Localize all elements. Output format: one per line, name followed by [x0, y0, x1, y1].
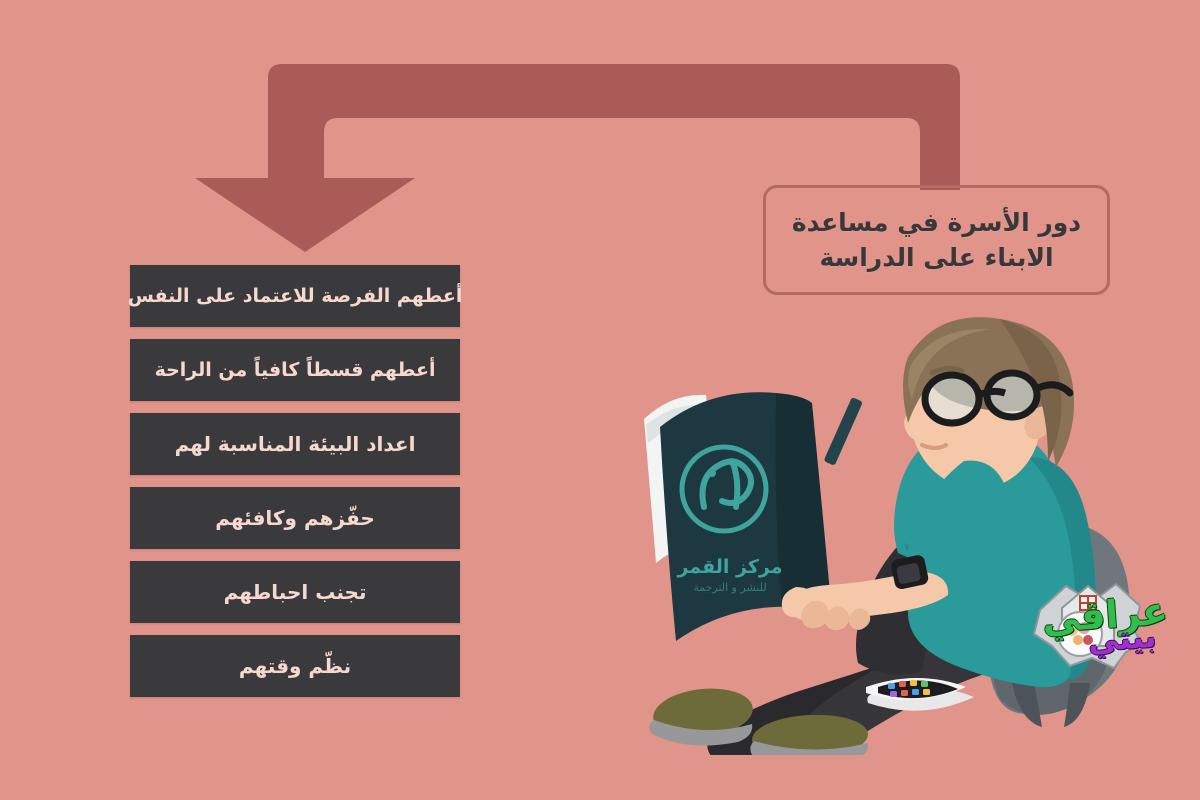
book-title-text: مركز القمر	[677, 556, 783, 578]
pencil	[824, 397, 863, 466]
watermark-logo: عراقي بيتي	[1022, 572, 1174, 674]
title-box: دور الأسرة في مساعدة الابناء على الدراسة	[763, 185, 1110, 295]
list-item[interactable]: تجنب احباطهم	[130, 561, 460, 623]
seated-student-illustration: مركز القمر للنشر و الترجمة	[560, 285, 1160, 755]
list-item-label: اعداد البيئة المناسبة لهم	[165, 433, 426, 455]
watermark-purple-text: بيتي	[1087, 622, 1157, 658]
list-item[interactable]: حفّزهم وكافئهم	[130, 487, 460, 549]
list-item-label: تجنب احباطهم	[214, 581, 377, 603]
page-title: دور الأسرة في مساعدة الابناء على الدراسة	[778, 205, 1095, 276]
infographic-canvas: دور الأسرة في مساعدة الابناء على الدراسة…	[0, 0, 1200, 800]
list-item-label: أعطهم الفرصة للاعتماد على النفس	[118, 286, 473, 307]
list-item[interactable]: نظّم وقتهم	[130, 635, 460, 697]
list-item-label: نظّم وقتهم	[229, 655, 361, 677]
book-subtitle-text: للنشر و الترجمة	[693, 581, 766, 594]
tips-list: أعطهم الفرصة للاعتماد على النفس أعطهم قس…	[130, 265, 460, 697]
title-line-2: الابناء على الدراسة	[819, 243, 1053, 272]
title-line-1: دور الأسرة في مساعدة	[792, 208, 1081, 237]
list-item[interactable]: أعطهم الفرصة للاعتماد على النفس	[130, 265, 460, 327]
list-item-label: أعطهم قسطاً كافياً من الراحة	[145, 360, 446, 381]
list-item-label: حفّزهم وكافئهم	[205, 507, 384, 529]
list-item[interactable]: أعطهم قسطاً كافياً من الراحة	[130, 339, 460, 401]
list-item[interactable]: اعداد البيئة المناسبة لهم	[130, 413, 460, 475]
